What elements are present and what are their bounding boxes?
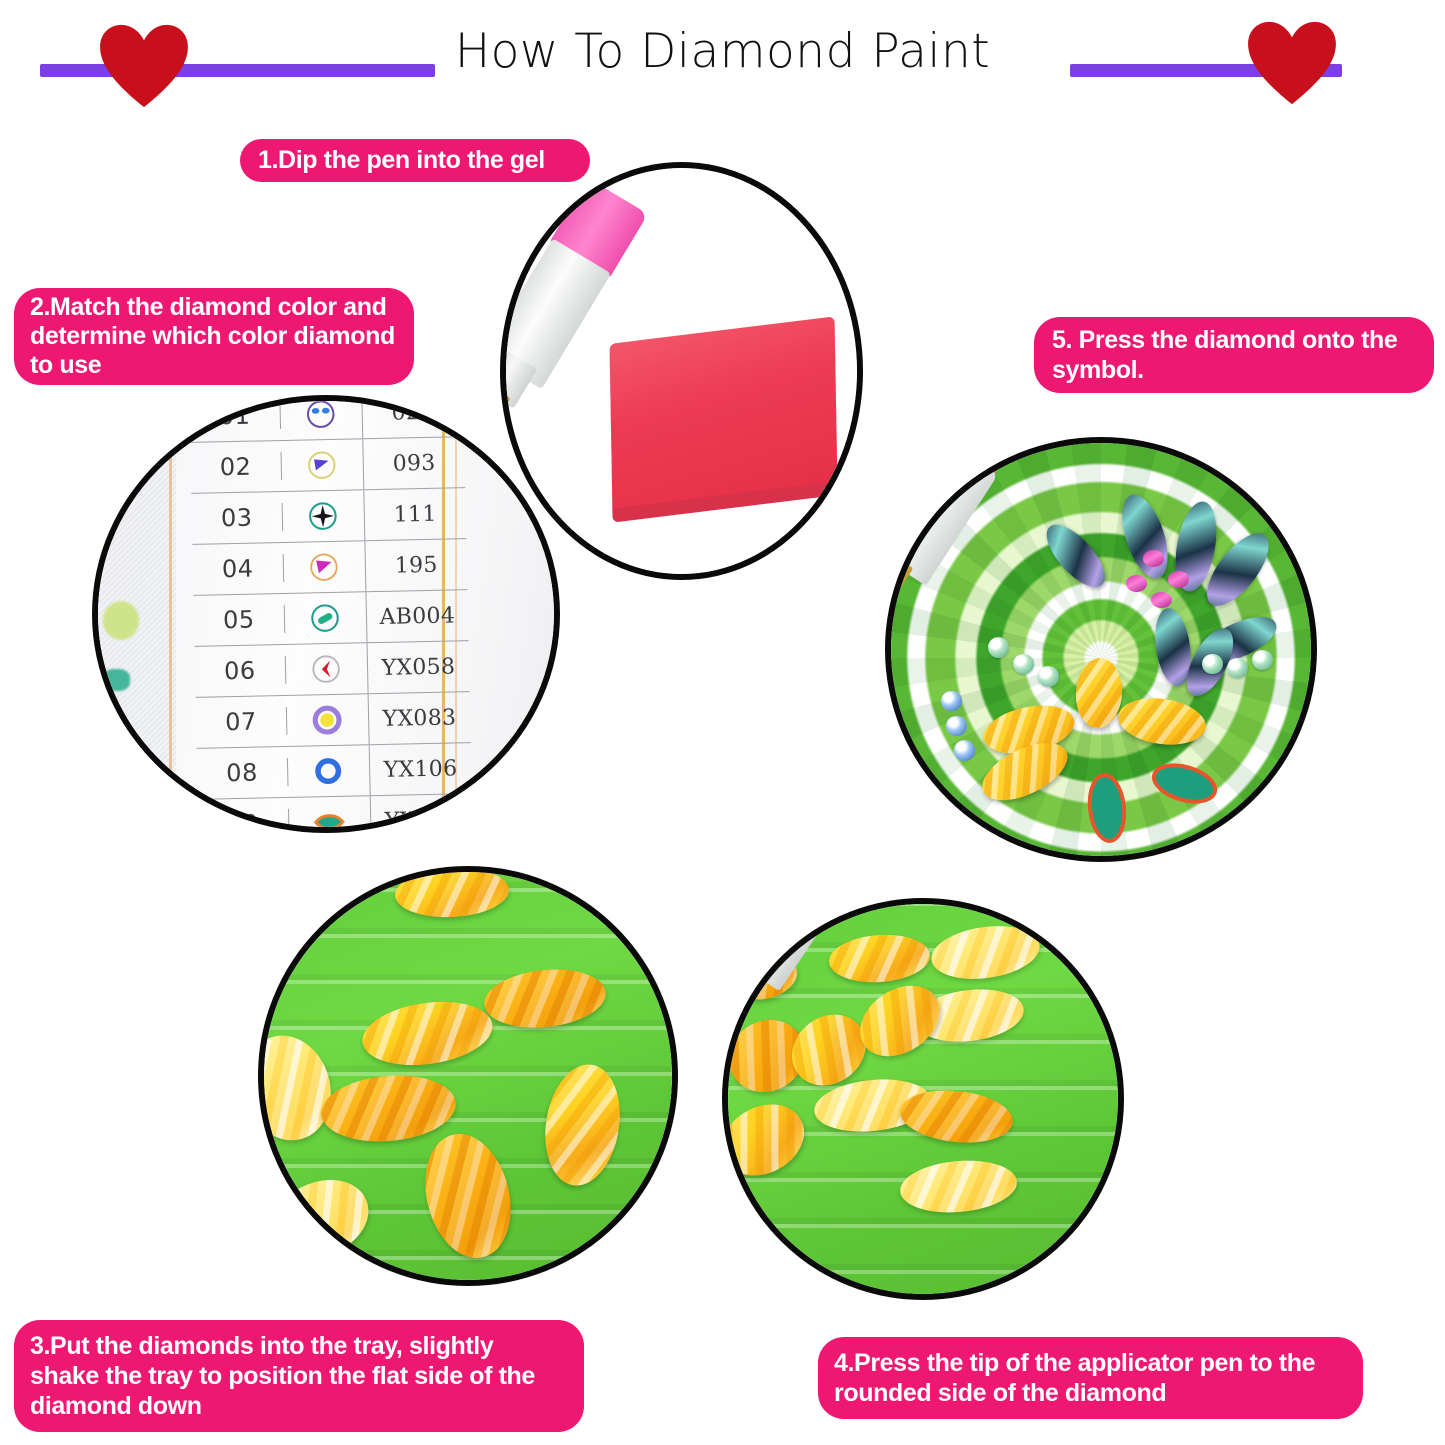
pressing-diamond-onto-canvas-photo bbox=[891, 443, 1311, 856]
color-chart-table: 01 028 02 bbox=[189, 401, 472, 827]
chart-row-code: YX083 bbox=[369, 705, 470, 732]
step-5-label: 5. Press the diamond onto the symbol. bbox=[1034, 317, 1434, 393]
chart-edge-line-left bbox=[169, 401, 172, 827]
gem-round-blue bbox=[954, 740, 975, 761]
chart-row-number: 01 bbox=[189, 401, 280, 431]
step-4-label: 4.Press the tip of the applicator pen to… bbox=[818, 1337, 1363, 1419]
gel-block bbox=[610, 317, 838, 515]
chart-row-number: 03 bbox=[191, 503, 282, 533]
chart-photo-background: 01 028 02 bbox=[98, 401, 554, 827]
color-chart-photo: 01 028 02 bbox=[98, 401, 554, 827]
gem-round bbox=[1013, 654, 1034, 675]
gem-pink-accent bbox=[1143, 550, 1164, 567]
blue-ring-symbol bbox=[287, 746, 371, 798]
yellow-dot-purple-ring-symbol bbox=[286, 695, 370, 747]
canvas-green-blob bbox=[103, 601, 139, 639]
magenta-triangle-circle-symbol bbox=[283, 542, 367, 594]
step-2-label-text: 2.Match the diamond color and determine … bbox=[30, 293, 398, 381]
table-row: 03 111 bbox=[191, 488, 466, 545]
diamonds-in-tray-photo bbox=[264, 872, 672, 1280]
chart-row-code: YX106 bbox=[370, 756, 471, 783]
teal-plus-circle-symbol bbox=[282, 491, 366, 543]
gem-round bbox=[988, 637, 1009, 658]
two-blue-dots-circle-symbol bbox=[280, 401, 364, 440]
table-row: 02 093 bbox=[190, 437, 465, 494]
step-5-label-text: 5. Press the diamond onto the symbol. bbox=[1052, 325, 1416, 385]
chart-row-code: AB004 bbox=[367, 603, 468, 630]
chart-row-number: 04 bbox=[192, 554, 283, 584]
step-2-label: 2.Match the diamond color and determine … bbox=[14, 288, 414, 385]
table-row: 06 YX058 bbox=[194, 641, 469, 698]
green-capsule-circle-symbol bbox=[284, 593, 368, 645]
teal-leaf-orange-outline-symbol bbox=[288, 797, 372, 827]
chart-row-code: 111 bbox=[364, 501, 465, 528]
chart-row-number: 08 bbox=[197, 758, 288, 788]
table-row: 09 YX125 bbox=[198, 794, 473, 827]
step-3-photo-circle bbox=[258, 866, 678, 1286]
gem-round bbox=[1038, 666, 1059, 687]
header: How To Diamond Paint bbox=[0, 0, 1445, 118]
chart-row-code: 195 bbox=[366, 552, 467, 579]
step-1-photo-circle bbox=[500, 162, 863, 580]
chart-row-number: 06 bbox=[195, 656, 286, 686]
pen-picking-diamond-photo bbox=[728, 904, 1118, 1294]
page-title: How To Diamond Paint bbox=[0, 28, 1445, 75]
chart-row-code: YX125 bbox=[371, 807, 472, 827]
step-2-photo-circle: 01 028 02 bbox=[92, 395, 560, 833]
chart-row-number: 09 bbox=[198, 809, 289, 827]
table-row: 05 AB004 bbox=[193, 590, 468, 647]
chart-row-code: 028 bbox=[362, 401, 463, 426]
chart-row-code: 093 bbox=[363, 450, 464, 477]
chart-row-number: 05 bbox=[193, 605, 284, 635]
gem-pink-accent bbox=[1126, 575, 1147, 592]
chart-row-code: YX058 bbox=[368, 654, 469, 681]
infographic-canvas: How To Diamond Paint 1.Dip the pen into … bbox=[0, 0, 1445, 1445]
table-row: 07 YX083 bbox=[195, 692, 470, 749]
canvas-teal-blob bbox=[103, 669, 130, 690]
table-row: 04 195 bbox=[192, 539, 467, 596]
step-4-label-text: 4.Press the tip of the applicator pen to… bbox=[834, 1348, 1347, 1408]
step-5-photo-circle bbox=[885, 437, 1317, 862]
chart-row-number: 07 bbox=[196, 707, 287, 737]
gem-round-blue bbox=[946, 716, 967, 737]
pen-dipping-into-gel-photo bbox=[506, 168, 857, 574]
gem-pink-accent bbox=[1168, 571, 1189, 588]
gem-round bbox=[1202, 654, 1223, 675]
step-3-label: 3.Put the diamonds into the tray, slight… bbox=[14, 1320, 584, 1432]
gem-round bbox=[1252, 650, 1273, 671]
step-3-label-text: 3.Put the diamonds into the tray, slight… bbox=[30, 1331, 568, 1421]
red-chevron-circle-symbol bbox=[285, 644, 369, 696]
step-4-photo-circle bbox=[722, 898, 1124, 1300]
chart-row-number: 02 bbox=[190, 452, 281, 482]
table-row: 08 YX106 bbox=[196, 743, 471, 800]
table-row: 01 028 bbox=[189, 401, 464, 443]
purple-triangle-circle-symbol bbox=[281, 440, 365, 492]
